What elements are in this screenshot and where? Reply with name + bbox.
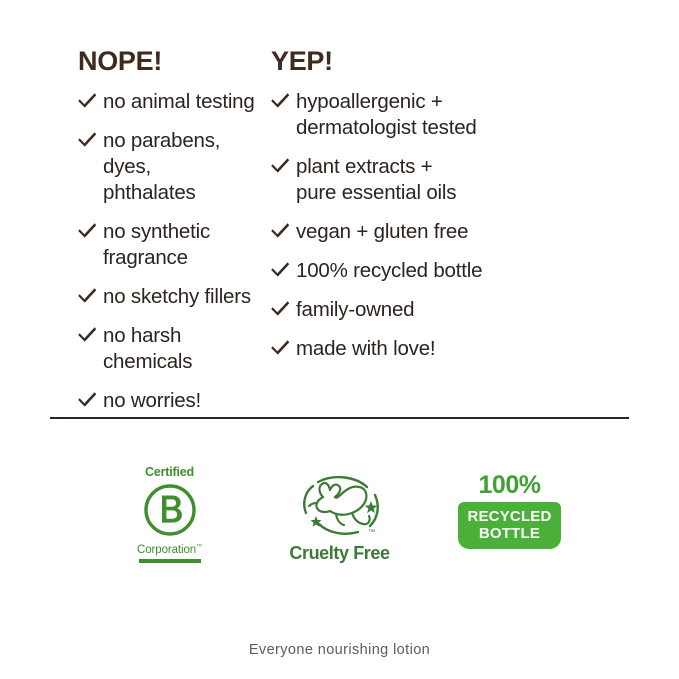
claims-column-nope: NOPE! no animal testing no parabens, dye…	[0, 48, 263, 414]
claim-text: vegan + gluten free	[296, 219, 468, 245]
claims-columns: NOPE! no animal testing no parabens, dye…	[0, 48, 679, 414]
list-item: no synthetic fragrance	[78, 219, 263, 271]
claims-list-yep: hypoallergenic + dermatologist tested pl…	[271, 89, 593, 362]
check-icon	[271, 339, 290, 361]
check-icon	[78, 222, 97, 244]
b-corp-underline	[139, 559, 201, 563]
claim-text: no parabens, dyes, phthalates	[103, 128, 263, 206]
trademark-icon: ™	[196, 544, 202, 550]
claims-list-nope: no animal testing no parabens, dyes, pht…	[78, 89, 263, 414]
b-corp-icon: Certified Corporation™	[137, 455, 202, 563]
recycled-bottle-icon: 100% RECYCLED BOTTLE	[458, 455, 560, 549]
claim-text: no sketchy fillers	[103, 284, 251, 310]
list-item: hypoallergenic + dermatologist tested	[271, 89, 593, 141]
check-icon	[78, 326, 97, 348]
recycled-line-2: BOTTLE	[467, 525, 551, 542]
leaping-bunny-icon: ™	[292, 473, 388, 542]
check-icon	[78, 287, 97, 309]
list-item: no harsh chemicals	[78, 323, 263, 375]
check-icon	[271, 222, 290, 244]
list-item: 100% recycled bottle	[271, 258, 593, 284]
section-divider	[50, 417, 629, 419]
recycled-line-1: RECYCLED	[467, 508, 551, 525]
badge-b-corporation: Certified Corporation™	[85, 455, 255, 575]
claim-text: no synthetic fragrance	[103, 219, 210, 271]
list-item: no sketchy fillers	[78, 284, 263, 310]
product-claims-graphic: NOPE! no animal testing no parabens, dye…	[0, 0, 679, 679]
claim-text: made with love!	[296, 336, 435, 362]
list-item: made with love!	[271, 336, 593, 362]
claims-column-yep: YEP! hypoallergenic + dermatologist test…	[263, 48, 593, 362]
column-title-nope: NOPE!	[78, 48, 263, 75]
list-item: no animal testing	[78, 89, 263, 115]
claim-text: family-owned	[296, 297, 414, 323]
b-corp-top-text: Certified	[145, 466, 194, 479]
check-icon	[78, 92, 97, 114]
check-icon	[271, 157, 290, 179]
check-icon	[271, 92, 290, 114]
claim-text: no harsh chemicals	[103, 323, 263, 375]
claim-text: 100% recycled bottle	[296, 258, 482, 284]
recycled-percent: 100%	[479, 473, 541, 498]
claim-text: plant extracts + pure essential oils	[296, 154, 456, 206]
column-title-yep: YEP!	[271, 48, 593, 75]
check-icon	[271, 300, 290, 322]
cruelty-free-label: Cruelty Free	[289, 544, 389, 562]
claim-text: hypoallergenic + dermatologist tested	[296, 89, 477, 141]
b-corp-bottom-text: Corporation™	[137, 544, 202, 556]
recycled-box: RECYCLED BOTTLE	[458, 502, 560, 549]
list-item: vegan + gluten free	[271, 219, 593, 245]
list-item: no worries!	[78, 388, 263, 414]
list-item: no parabens, dyes, phthalates	[78, 128, 263, 206]
certification-badges: Certified Corporation™	[0, 455, 679, 575]
list-item: family-owned	[271, 297, 593, 323]
check-icon	[78, 131, 97, 153]
check-icon	[78, 391, 97, 413]
check-icon	[271, 261, 290, 283]
list-item: plant extracts + pure essential oils	[271, 154, 593, 206]
trademark-icon: ™	[368, 529, 375, 536]
claim-text: no animal testing	[103, 89, 255, 115]
b-corp-bottom-label: Corporation	[137, 543, 196, 555]
badge-recycled-bottle: 100% RECYCLED BOTTLE	[425, 455, 595, 575]
b-corp-mark	[143, 483, 197, 542]
product-caption: Everyone nourishing lotion	[0, 642, 679, 658]
badge-cruelty-free: ™ Cruelty Free	[255, 455, 425, 575]
claim-text: no worries!	[103, 388, 201, 414]
